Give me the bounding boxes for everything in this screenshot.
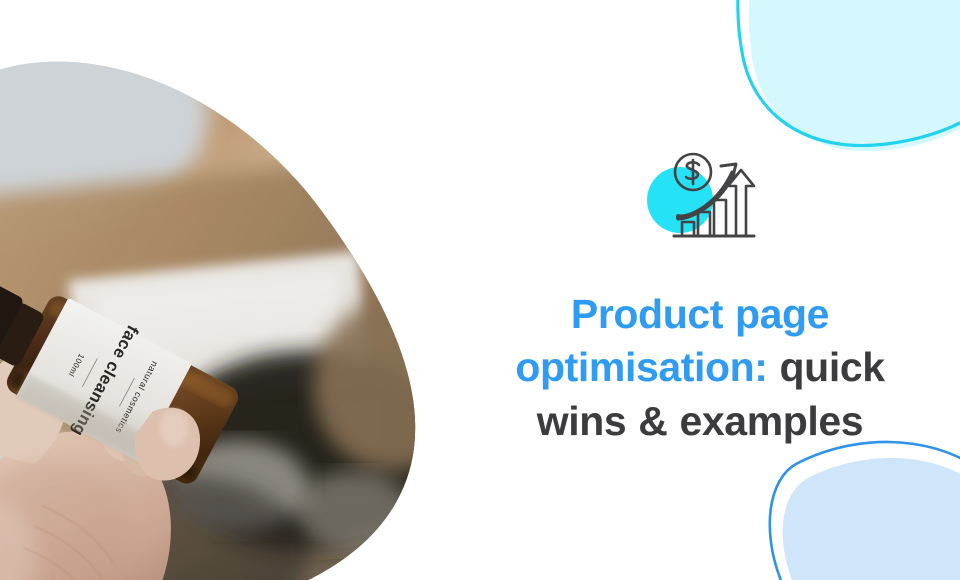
hand-holding-cosmetic-bottle-photo: natural cosmetics face cleansing 100ml [0,56,430,580]
growth-chart-dollar-icon [642,146,758,246]
hero-banner: natural cosmetics face cleansing 100ml [0,0,960,580]
page-title: Product page optimisation: quick wins & … [465,288,935,448]
hero-content: Product page optimisation: quick wins & … [440,0,960,580]
